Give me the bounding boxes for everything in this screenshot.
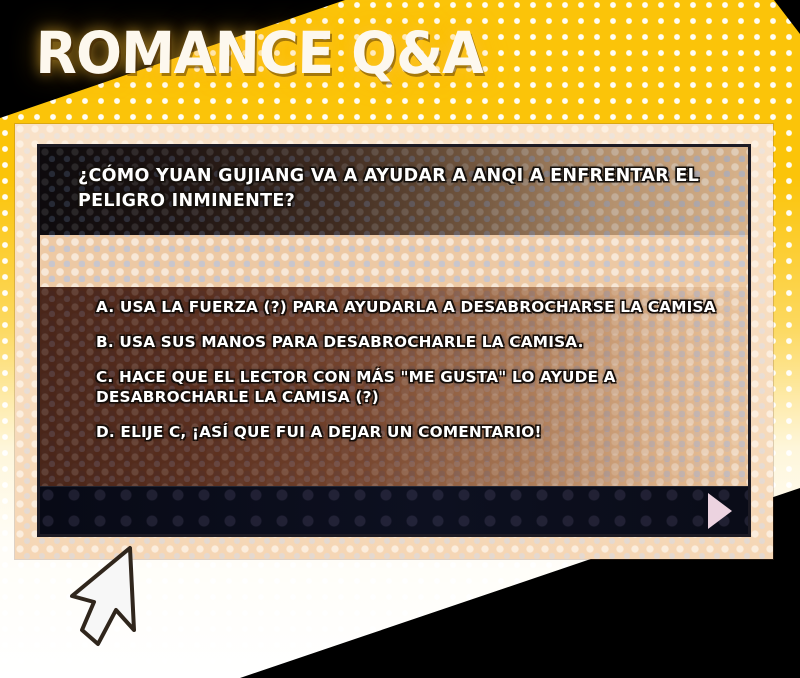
page-title: ROMANCE Q&A [35, 24, 484, 82]
question-text: ¿CÓMO YUAN GUJIANG VA A AYUDAR A ANQI A … [78, 164, 718, 214]
quiz-slide: ROMANCE Q&A ¿CÓMO YUAN GUJIANG VA A AYUD… [0, 0, 800, 678]
quiz-frame: ¿CÓMO YUAN GUJIANG VA A AYUDAR A ANQI A … [15, 124, 773, 559]
quiz-screen: ¿CÓMO YUAN GUJIANG VA A AYUDAR A ANQI A … [37, 144, 751, 537]
answer-option-a[interactable]: A. USA LA FUERZA (?) PARA AYUDARLA A DES… [96, 297, 726, 317]
answer-option-d[interactable]: D. ELIJE C, ¡ASÍ QUE FUI A DEJAR UN COME… [96, 422, 726, 442]
next-arrow-icon[interactable] [708, 493, 732, 529]
answer-options-list: A. USA LA FUERZA (?) PARA AYUDARLA A DES… [96, 297, 726, 442]
answer-option-c[interactable]: C. HACE QUE EL LECTOR CON MÁS "ME GUSTA"… [96, 367, 726, 407]
screen-bottom-bar [40, 486, 748, 534]
answer-option-b[interactable]: B. USA SUS MANOS PARA DESABROCHARLE LA C… [96, 332, 726, 352]
